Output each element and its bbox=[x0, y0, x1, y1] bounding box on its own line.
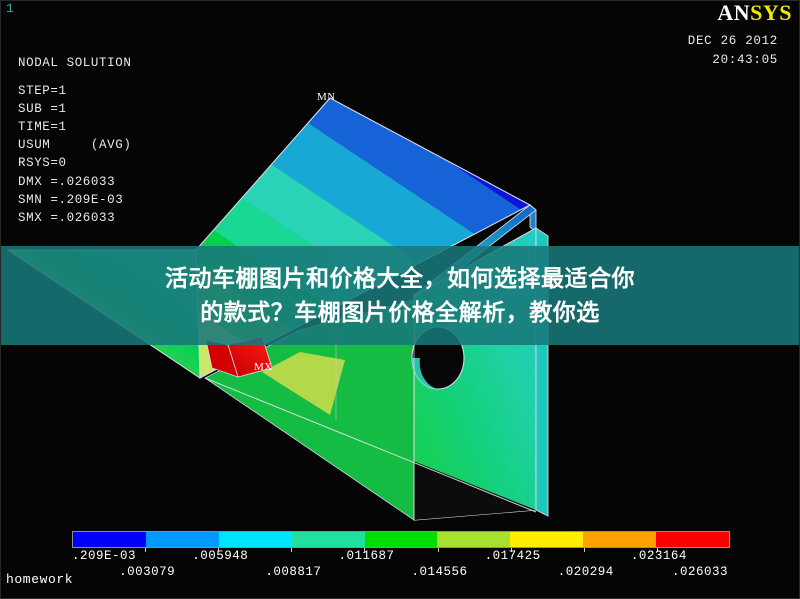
info-usum: USUM (AVG) bbox=[18, 138, 131, 152]
colorbar-segment bbox=[292, 532, 365, 547]
colorbar-value-label: .003079 bbox=[119, 565, 175, 579]
info-step: STEP=1 bbox=[18, 84, 67, 98]
job-name-label: homework bbox=[6, 572, 73, 587]
colorbar-segment bbox=[146, 532, 219, 547]
nodal-solution-info: NODAL SOLUTIONSTEP=1 SUB =1 TIME=1 USUM … bbox=[18, 18, 131, 245]
info-rsys: RSYS=0 bbox=[18, 156, 67, 170]
colorbar-value-label: .023164 bbox=[631, 549, 687, 563]
colorbar-value-label: .005948 bbox=[192, 549, 248, 563]
caption-line-1: 活动车棚图片和价格大全，如何选择最适合你 bbox=[165, 262, 635, 296]
colorbar-value-label: .017425 bbox=[485, 549, 541, 563]
colorbar-tick bbox=[584, 548, 585, 552]
date-text: DEC 26 2012 bbox=[688, 32, 778, 51]
colorbar-value-label: .026033 bbox=[672, 565, 728, 579]
info-dmx: DMX =.026033 bbox=[18, 175, 115, 189]
colorbar-segment bbox=[365, 532, 438, 547]
colorbar-segment bbox=[219, 532, 292, 547]
ansys-logo: ANSYS bbox=[717, 1, 792, 25]
colorbar-tick bbox=[291, 548, 292, 552]
colorbar-value-label: .209E-03 bbox=[72, 549, 136, 563]
info-time: TIME=1 bbox=[18, 120, 67, 134]
logo-sys-text: SYS bbox=[750, 0, 792, 25]
info-sub: SUB =1 bbox=[18, 102, 67, 116]
info-smx: SMX =.026033 bbox=[18, 211, 115, 225]
timestamp: DEC 26 2012 20:43:05 bbox=[688, 32, 778, 69]
max-value-marker: MX bbox=[254, 362, 273, 373]
min-value-marker: MN bbox=[317, 92, 336, 103]
colorbar-segment bbox=[73, 532, 146, 547]
colorbar-segment bbox=[510, 532, 583, 547]
colorbar-value-label: .008817 bbox=[265, 565, 321, 579]
caption-line-2: 的款式？车棚图片价格全解析，教你选 bbox=[200, 296, 600, 330]
caption-text: 活动车棚图片和价格大全，如何选择最适合你 的款式？车棚图片价格全解析，教你选 bbox=[0, 246, 800, 345]
colorbar-tick bbox=[145, 548, 146, 552]
info-smn: SMN =.209E-03 bbox=[18, 193, 123, 207]
colorbar-segment bbox=[583, 532, 656, 547]
colorbar-value-label: .020294 bbox=[558, 565, 614, 579]
colorbar-segment bbox=[437, 532, 510, 547]
window-number: 1 bbox=[6, 2, 14, 15]
contour-colorbar bbox=[72, 531, 730, 548]
colorbar-segment bbox=[656, 532, 729, 547]
solution-title: NODAL SOLUTION bbox=[18, 54, 131, 72]
logo-an-text: AN bbox=[717, 0, 750, 25]
colorbar-value-label: .014556 bbox=[412, 565, 468, 579]
colorbar-tick bbox=[438, 548, 439, 552]
colorbar-value-label: .011687 bbox=[338, 549, 394, 563]
ansys-plot-window: MN MX 1 NODAL SOLUTIONSTEP=1 SUB =1 TIME… bbox=[0, 0, 800, 599]
time-text: 20:43:05 bbox=[688, 51, 778, 70]
